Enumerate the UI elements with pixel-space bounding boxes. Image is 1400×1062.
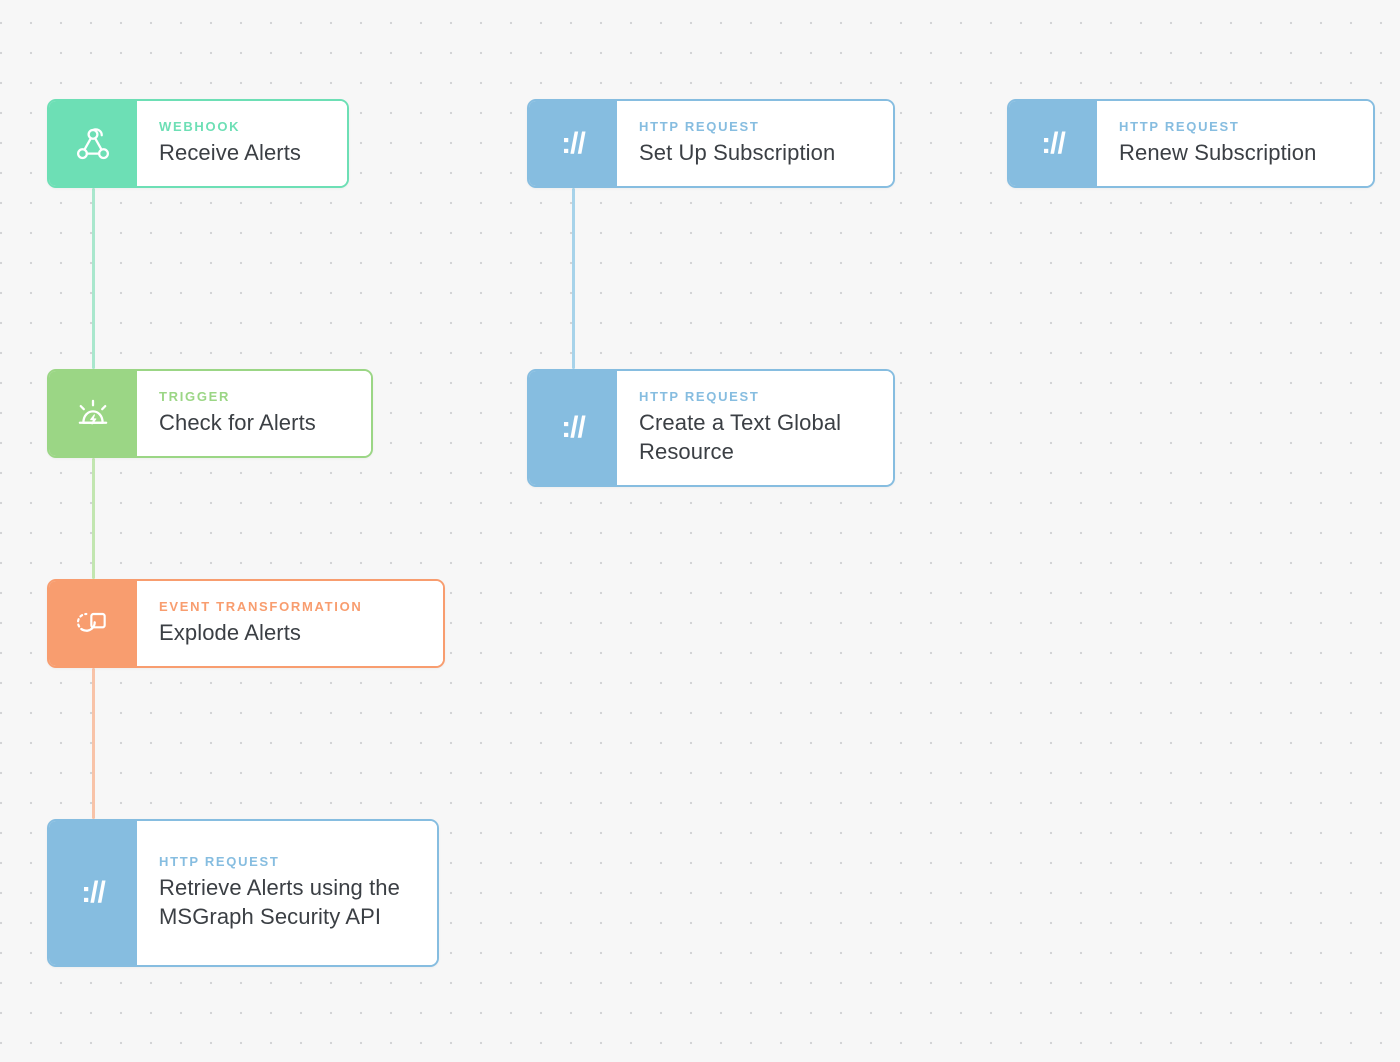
- connector-receive-to-check[interactable]: [92, 188, 95, 369]
- node-body: HTTP REQUESTCreate a Text Global Resourc…: [617, 371, 893, 485]
- node-set-up-subscription[interactable]: ://HTTP REQUESTSet Up Subscription: [527, 99, 895, 188]
- siren-icon: [72, 393, 114, 435]
- node-icon-panel: ://: [529, 101, 617, 186]
- node-icon-panel: [49, 371, 137, 456]
- node-body: TRIGGERCheck for Alerts: [137, 371, 371, 456]
- node-title: Create a Text Global Resource: [639, 408, 875, 467]
- node-receive-alerts[interactable]: WEBHOOKReceive Alerts: [47, 99, 349, 188]
- node-category-label: WEBHOOK: [159, 119, 329, 135]
- node-title: Explode Alerts: [159, 618, 425, 647]
- node-icon-panel: [49, 101, 137, 186]
- node-category-label: HTTP REQUEST: [639, 389, 875, 405]
- connector-setup-to-create[interactable]: [572, 188, 575, 369]
- node-body: HTTP REQUESTRenew Subscription: [1097, 101, 1373, 186]
- workflow-nodes-layer: WEBHOOKReceive AlertsTRIGGERCheck for Al…: [0, 0, 1400, 1062]
- node-body: EVENT TRANSFORMATIONExplode Alerts: [137, 581, 443, 666]
- node-renew-subscription[interactable]: ://HTTP REQUESTRenew Subscription: [1007, 99, 1375, 188]
- node-title: Set Up Subscription: [639, 138, 875, 167]
- node-title: Receive Alerts: [159, 138, 329, 167]
- node-check-for-alerts[interactable]: TRIGGERCheck for Alerts: [47, 369, 373, 458]
- node-icon-panel: ://: [1009, 101, 1097, 186]
- url-icon: ://: [81, 878, 105, 908]
- node-category-label: HTTP REQUEST: [159, 854, 419, 870]
- node-category-label: EVENT TRANSFORMATION: [159, 599, 425, 615]
- node-body: WEBHOOKReceive Alerts: [137, 101, 347, 186]
- url-icon: ://: [1041, 129, 1065, 159]
- node-title: Retrieve Alerts using the MSGraph Securi…: [159, 873, 419, 932]
- node-explode-alerts[interactable]: EVENT TRANSFORMATIONExplode Alerts: [47, 579, 445, 668]
- url-icon: ://: [561, 129, 585, 159]
- node-icon-panel: ://: [49, 821, 137, 965]
- node-body: HTTP REQUESTRetrieve Alerts using the MS…: [137, 821, 437, 965]
- node-category-label: HTTP REQUEST: [1119, 119, 1355, 135]
- node-icon-panel: ://: [529, 371, 617, 485]
- transform-icon: [73, 604, 113, 644]
- webhook-icon: [72, 123, 114, 165]
- node-icon-panel: [49, 581, 137, 666]
- connector-explode-to-retrieve[interactable]: [92, 668, 95, 819]
- node-category-label: TRIGGER: [159, 389, 353, 405]
- node-title: Check for Alerts: [159, 408, 353, 437]
- node-category-label: HTTP REQUEST: [639, 119, 875, 135]
- node-create-text-global-resource[interactable]: ://HTTP REQUESTCreate a Text Global Reso…: [527, 369, 895, 487]
- node-retrieve-alerts[interactable]: ://HTTP REQUESTRetrieve Alerts using the…: [47, 819, 439, 967]
- node-body: HTTP REQUESTSet Up Subscription: [617, 101, 893, 186]
- connector-check-to-explode[interactable]: [92, 458, 95, 579]
- url-icon: ://: [561, 413, 585, 443]
- node-title: Renew Subscription: [1119, 138, 1355, 167]
